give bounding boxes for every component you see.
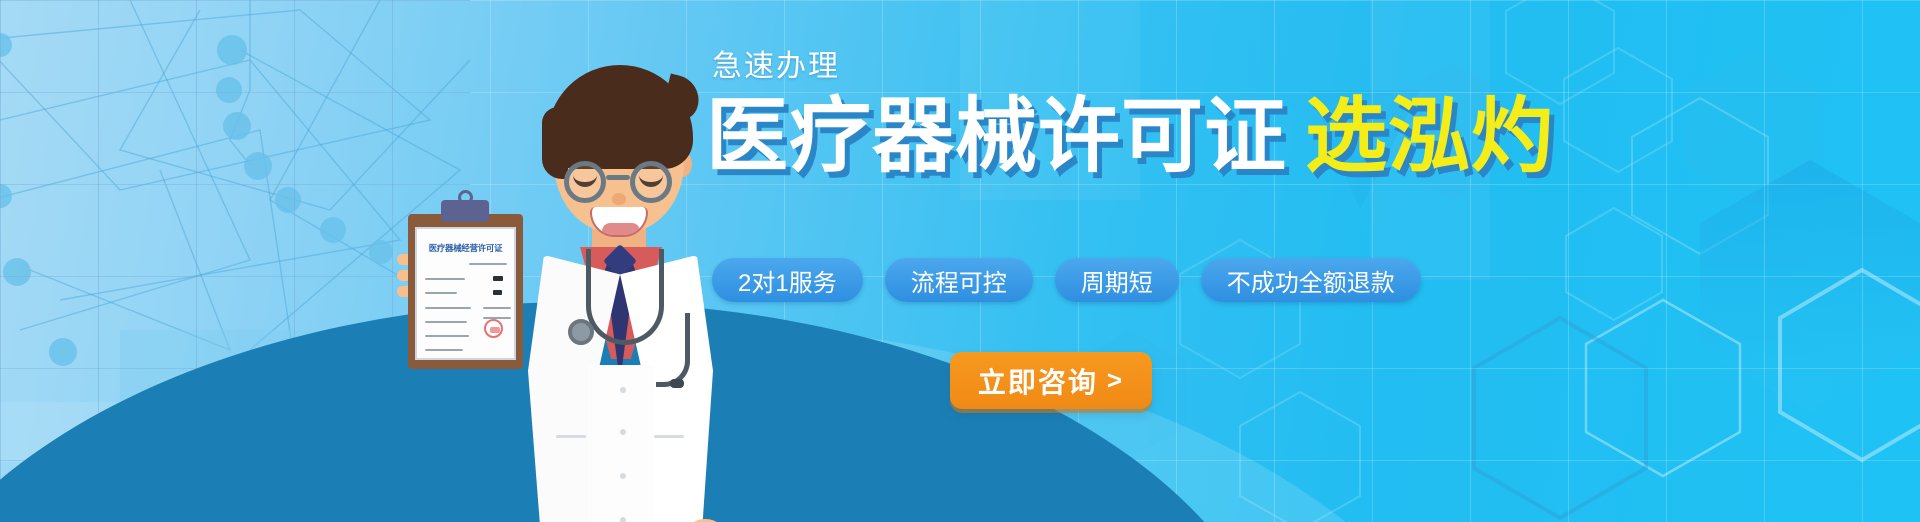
glasses-bridge-icon [606,175,630,180]
headline-main: 医疗器械许可证 [706,96,1287,178]
certificate-paper: 医疗器械经营许可证 [415,227,516,360]
lab-coat-button [620,387,626,393]
doctor-body [528,247,713,522]
stethoscope-tube-icon [656,313,690,387]
doctor-hair [547,65,693,169]
chevron-right-icon: > [1107,365,1124,396]
certificate-line [483,317,511,319]
lab-coat-button [620,473,626,479]
certificate-line [425,349,463,351]
feature-pill[interactable]: 周期短 [1055,258,1179,302]
consult-now-button[interactable]: 立即咨询 > [950,352,1152,409]
stethoscope-earpiece-icon [670,379,684,388]
page-title: 医疗器械许可证 选泓灼 [706,96,1554,178]
banner-content: 医疗器械经营许可证 [0,0,1920,522]
certificate-title: 医疗器械经营许可证 [423,242,508,254]
lab-coat-button [620,517,626,522]
doctor-illustration [520,55,720,522]
consult-now-label: 立即咨询 [978,361,1098,401]
feature-pill[interactable]: 不成功全额退款 [1201,258,1421,302]
feature-pill-list: 2对1服务 流程可控 周期短 不成功全额退款 [712,258,1421,302]
certificate-line [483,307,511,309]
lab-coat-pocket-right [654,435,684,438]
promo-banner: 医疗器械经营许可证 [0,0,1920,522]
feature-pill[interactable]: 流程可控 [885,258,1033,302]
certificate-line [469,263,507,265]
certificate-redaction [493,290,502,295]
eyebrow-text: 急速办理 [712,52,840,82]
glasses-lens-left-icon [564,161,606,203]
certificate-stamp-icon [484,319,503,338]
certificate-redaction [493,276,503,281]
certificate-line [425,321,467,323]
clipboard-clip-ring [458,190,473,205]
doctor-hair-side [542,107,568,179]
headline-accent: 选泓灼 [1305,96,1554,178]
certificate-line [425,307,471,309]
certificate-line [425,335,469,337]
stethoscope-head-icon [568,319,594,345]
stethoscope-icon [586,249,664,345]
lab-coat-pocket-left [556,435,586,438]
clipboard-illustration: 医疗器械经营许可证 [408,214,523,369]
lab-coat-button [620,429,626,435]
doctor-nose [612,193,626,205]
feature-pill[interactable]: 2对1服务 [712,258,863,302]
certificate-line [425,278,465,280]
certificate-line [425,292,457,294]
glasses-lens-right-icon [630,161,672,203]
